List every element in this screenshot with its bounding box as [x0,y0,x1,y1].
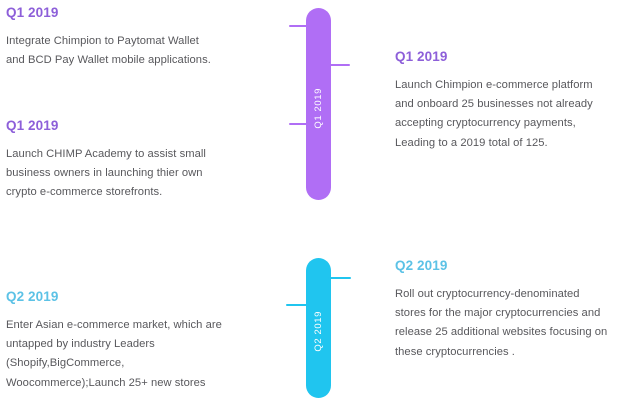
milestone-body: Launch Chimpion e-commerce platformand o… [395,76,635,153]
milestone-title: Q1 2019 [395,50,635,65]
milestone-title: Q2 2019 [395,259,630,274]
connector-q2-left [286,304,309,306]
milestone-body-line: stores for the major cryptocurrencies an… [395,304,630,323]
connector-q1-right [328,64,350,66]
milestone-title: Q1 2019 [6,119,256,134]
connector-q1-left-top [289,25,309,27]
milestone-body-line: Launch CHIMP Academy to assist small [6,145,256,164]
timeline-bar-q1[interactable]: Q1 2019 [306,8,331,200]
milestone-body-line: Enter Asian e-commerce market, which are [6,316,271,335]
milestone-body-line: Leading to a 2019 total of 125. [395,134,635,153]
milestone-q1-left-top: Q1 2019 Integrate Chimpion to Paytomat W… [6,6,256,70]
milestone-q2-left: Q2 2019 Enter Asian e-commerce market, w… [6,290,271,393]
connector-q2-right [328,277,351,279]
milestone-body-line: Woocommerce);Launch 25+ new stores [6,374,271,393]
connector-q1-left-bottom [289,123,309,125]
milestone-body: Roll out cryptocurrency-denominatedstore… [395,285,630,362]
milestone-q1-left-bottom: Q1 2019 Launch CHIMP Academy to assist s… [6,119,256,203]
timeline-bar-q2[interactable]: Q2 2019 [306,258,331,398]
milestone-body-line: these cryptocurrencies . [395,343,630,362]
milestone-body-line: untapped by industry Leaders [6,335,271,354]
milestone-body-line: and BCD Pay Wallet mobile applications. [6,51,256,70]
roadmap-timeline: Q1 2019 Q2 2019 Q1 2019 Integrate Chimpi… [0,0,640,407]
milestone-body-line: business owners in launching thier own [6,164,256,183]
milestone-title: Q1 2019 [6,6,256,21]
milestone-body-line: Roll out cryptocurrency-denominated [395,285,630,304]
timeline-bar-q1-label: Q1 2019 [313,88,324,129]
milestone-body-line: accepting cryptocurrency payments, [395,114,635,133]
milestone-q2-right: Q2 2019 Roll out cryptocurrency-denomina… [395,259,630,362]
milestone-body-line: (Shopify,BigCommerce, [6,354,271,373]
milestone-body-line: release 25 additional websites focusing … [395,323,630,342]
milestone-q1-right: Q1 2019 Launch Chimpion e-commerce platf… [395,50,635,153]
milestone-body: Integrate Chimpion to Paytomat Walletand… [6,32,256,71]
milestone-body-line: Launch Chimpion e-commerce platform [395,76,635,95]
milestone-body: Enter Asian e-commerce market, which are… [6,316,271,393]
milestone-title: Q2 2019 [6,290,271,305]
milestone-body: Launch CHIMP Academy to assist smallbusi… [6,145,256,203]
milestone-body-line: Integrate Chimpion to Paytomat Wallet [6,32,256,51]
timeline-bar-q2-label: Q2 2019 [313,311,324,352]
milestone-body-line: crypto e-commerce storefronts. [6,183,256,202]
milestone-body-line: and onboard 25 businesses not already [395,95,635,114]
